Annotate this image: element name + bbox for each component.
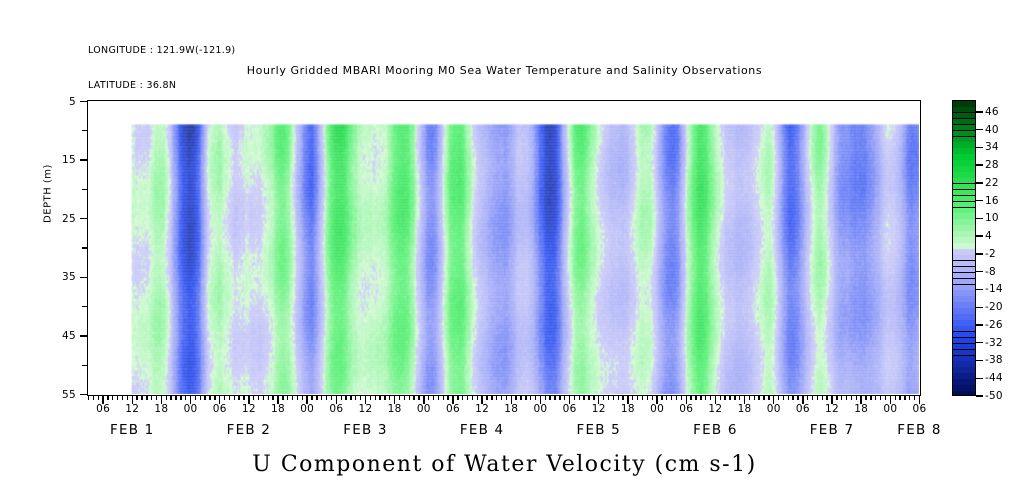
y-axis-tick-major: [80, 101, 87, 102]
longitude-text: LONGITUDE : 121.9W(-121.9): [88, 45, 235, 57]
colorbar-tick: [976, 200, 983, 201]
colorbar-tick-label: 22: [985, 177, 999, 189]
colorbar: 464034282216104-2-8-14-20-26-32-38-44-50: [952, 100, 976, 396]
y-axis-tick-major: [80, 394, 87, 395]
colorbar-tick-label: -26: [985, 319, 1003, 331]
x-axis-day-label: FEB 5: [539, 422, 659, 438]
x-axis-day-label: FEB 8: [860, 422, 980, 438]
plot-caption: U Component of Water Velocity (cm s-1): [0, 452, 1009, 477]
colorbar-tick: [976, 271, 983, 272]
y-axis-tick-major: [80, 335, 87, 336]
y-axis-tick-label: 55: [48, 389, 76, 401]
colorbar-tick-label: 4: [985, 230, 992, 242]
y-axis-tick-major: [80, 277, 87, 278]
y-axis-tick-label: 5: [48, 96, 76, 108]
colorbar-tick-label: -32: [985, 337, 1003, 349]
x-axis-day-label: FEB 1: [72, 422, 192, 438]
colorbar-gradient: [952, 100, 976, 396]
colorbar-tick-label: 28: [985, 159, 999, 171]
y-axis-tick-major: [80, 218, 87, 219]
colorbar-band: [953, 391, 975, 396]
colorbar-tick: [976, 129, 983, 130]
x-axis-hour-label: 06: [900, 403, 940, 415]
colorbar-tick-label: 40: [985, 124, 999, 136]
colorbar-tick-label: -2: [985, 248, 996, 260]
y-axis-tick-label: 15: [48, 154, 76, 166]
heatmap-plot-area: [87, 100, 921, 396]
colorbar-tick: [976, 182, 983, 183]
latitude-text: LATITUDE : 36.8N: [88, 80, 235, 92]
colorbar-tick-label: 10: [985, 212, 999, 224]
colorbar-tick: [976, 218, 983, 219]
colorbar-tick-label: 46: [985, 106, 999, 118]
colorbar-tick: [976, 360, 983, 361]
colorbar-tick: [976, 253, 983, 254]
colorbar-tick-label: -38: [985, 354, 1003, 366]
x-axis-day-label: FEB 6: [655, 422, 775, 438]
chart-title: Hourly Gridded MBARI Mooring M0 Sea Wate…: [0, 64, 1009, 77]
colorbar-tick-label: -14: [985, 283, 1003, 295]
colorbar-tick-label: -8: [985, 266, 996, 278]
colorbar-tick: [976, 395, 983, 396]
colorbar-tick: [976, 342, 983, 343]
colorbar-tick: [976, 111, 983, 112]
y-axis-tick-label: 35: [48, 271, 76, 283]
colorbar-tick: [976, 307, 983, 308]
colorbar-tick: [976, 324, 983, 325]
colorbar-tick: [976, 289, 983, 290]
x-axis-day-label: FEB 3: [306, 422, 426, 438]
colorbar-tick: [976, 235, 983, 236]
colorbar-tick: [976, 378, 983, 379]
x-axis-day-label: FEB 4: [422, 422, 542, 438]
colorbar-tick: [976, 164, 983, 165]
heatmap-canvas: [88, 101, 919, 394]
x-axis-day-label: FEB 2: [189, 422, 309, 438]
y-axis-tick-label: 45: [48, 330, 76, 342]
colorbar-tick-label: -50: [985, 390, 1003, 402]
y-axis-title: DEPTH (m): [43, 134, 54, 254]
colorbar-tick-label: 16: [985, 195, 999, 207]
colorbar-tick-label: 34: [985, 141, 999, 153]
colorbar-tick-label: -44: [985, 372, 1003, 384]
colorbar-tick: [976, 147, 983, 148]
colorbar-tick-label: -20: [985, 301, 1003, 313]
y-axis-tick-label: 25: [48, 213, 76, 225]
y-axis-tick-major: [80, 159, 87, 160]
